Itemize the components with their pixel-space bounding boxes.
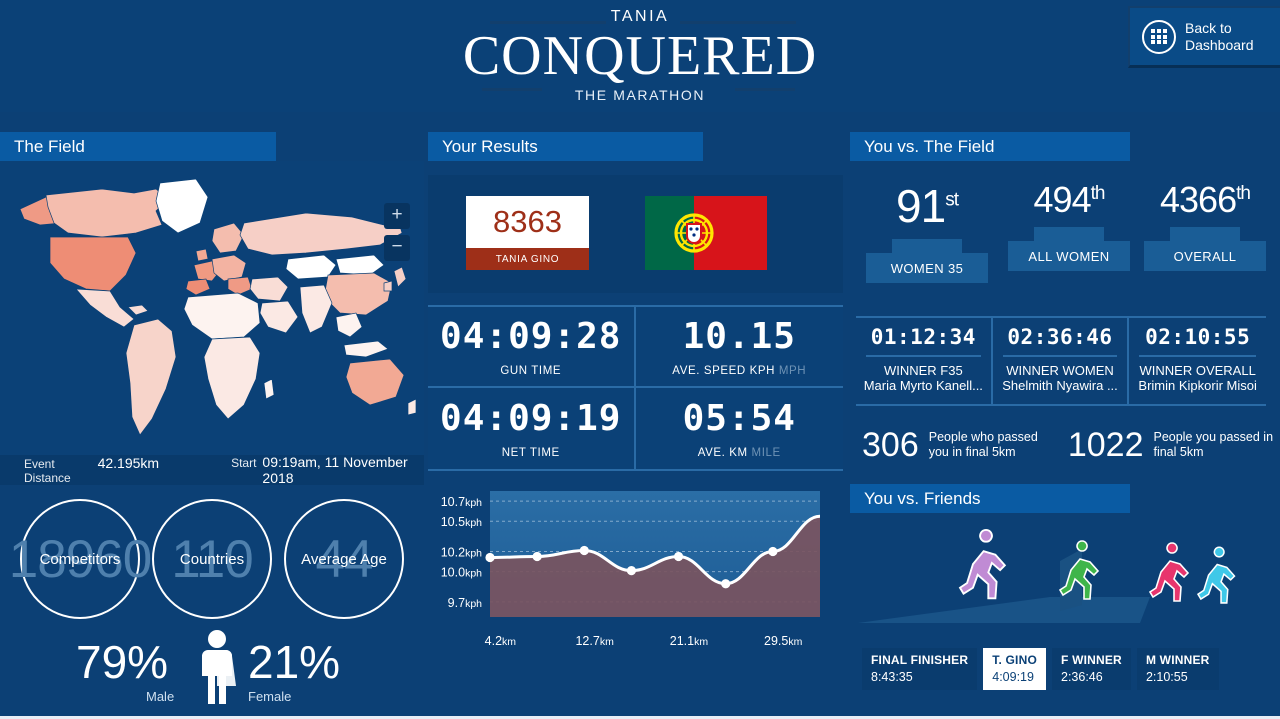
rank-women-35: 91st WOMEN 35: [856, 179, 998, 285]
event-start: Start 09:19am, 11 November 2018: [231, 454, 424, 486]
winner-women-title: WINNER WOMEN: [993, 363, 1128, 378]
marathon-results-dashboard: TANIA CONQUERED THE MARATHON Back to Das…: [0, 0, 1280, 719]
passed-you-count: 306: [862, 426, 919, 465]
female-label: Female: [248, 689, 291, 704]
runners-stage: [850, 519, 1276, 639]
net-time-value: 04:09:19: [440, 398, 621, 439]
you-passed-count: 1022: [1068, 426, 1144, 465]
the-field-title: The Field: [14, 137, 85, 157]
you-vs-field-panel: You vs. The Field 91st WOMEN 35 494th AL…: [850, 132, 1276, 698]
you-vs-field-header: You vs. The Field: [850, 132, 1130, 161]
friend-card-time: 2:36:46: [1061, 670, 1122, 684]
map-zoom-controls[interactable]: + −: [384, 203, 410, 261]
event-distance: Event Distance 42.195km: [24, 455, 159, 485]
ave-speed-value: 10.15: [683, 316, 796, 357]
your-results-title: Your Results: [442, 137, 538, 157]
winner-overall-time: 02:10:55: [1129, 325, 1266, 349]
subtitle-rule-right: [735, 88, 795, 91]
world-map-svg: [6, 167, 418, 447]
you-vs-friends-section: FINAL FINISHER8:43:35T. GINO4:09:19F WIN…: [850, 513, 1276, 698]
rank-women-35-number: 91: [896, 180, 945, 232]
subtitle-rule-left: [482, 88, 542, 91]
rank-overall-number: 4366: [1160, 179, 1236, 220]
podium-top: [892, 239, 962, 253]
event-info-bar: Event Distance 42.195km Start 09:19am, 1…: [0, 455, 424, 485]
competitors-label: Competitors: [20, 499, 140, 619]
pace-chart[interactable]: 9.7kph10.0kph10.2kph10.5kph10.7kph4.2km1…: [428, 479, 843, 679]
rank-women-35-label: WOMEN 35: [866, 253, 988, 283]
svg-text:9.7kph: 9.7kph: [448, 596, 482, 610]
gun-time-label: GUN TIME: [500, 365, 561, 377]
back-to-dashboard-label: Back to Dashboard: [1185, 20, 1254, 54]
the-field-header: The Field: [0, 132, 276, 161]
winner-f35-name: Maria Myrto Kanell...: [856, 378, 991, 393]
svg-text:10.7kph: 10.7kph: [441, 495, 482, 509]
winner-overall: 02:10:55 WINNER OVERALL Brimin Kipkorir …: [1129, 318, 1266, 404]
page-title: CONQUERED: [0, 27, 1280, 85]
you-vs-friends-header: You vs. Friends: [850, 484, 1130, 513]
male-label: Male: [146, 689, 174, 704]
winner-overall-title: WINNER OVERALL: [1129, 363, 1266, 378]
you-passed-stat: 1022 People you passed in final 5km: [1068, 426, 1273, 465]
winner-f35-time: 01:12:34: [856, 325, 991, 349]
rank-all-women-label: ALL WOMEN: [1008, 241, 1130, 271]
rank-all-women-podium: ALL WOMEN: [998, 227, 1140, 273]
rank-women-35-value: 91st: [856, 179, 998, 233]
svg-text:10.0kph: 10.0kph: [441, 566, 482, 580]
male-percent: 79%: [76, 635, 168, 689]
winner-divider: [866, 355, 981, 357]
winner-women-name: Shelmith Nyawira ...: [993, 378, 1128, 393]
winner-divider: [1139, 355, 1256, 357]
you-vs-friends-title: You vs. Friends: [864, 489, 981, 509]
rank-overall-value: 4366th: [1134, 179, 1276, 221]
gender-figure-icon: [194, 629, 240, 712]
map-zoom-out-button[interactable]: −: [384, 235, 410, 261]
friend-card[interactable]: FINAL FINISHER8:43:35: [862, 648, 977, 690]
friend-card-time: 4:09:19: [992, 670, 1037, 684]
back-to-dashboard-button[interactable]: Back to Dashboard: [1128, 6, 1280, 68]
friend-card-title: M WINNER: [1146, 653, 1210, 667]
passed-you-stat: 306 People who passed you in final 5km: [862, 426, 1038, 465]
the-field-panel: The Field: [0, 132, 424, 715]
event-start-value: 09:19am, 11 November 2018: [262, 454, 424, 486]
svg-text:4.2km: 4.2km: [485, 634, 517, 648]
countries-label: Countries: [152, 499, 272, 619]
average-age-label: Average Age: [284, 499, 404, 619]
winner-women: 02:36:46 WINNER WOMEN Shelmith Nyawira .…: [993, 318, 1130, 404]
passed-you-text: People who passed you in final 5km: [929, 430, 1038, 460]
rank-all-women-suffix: th: [1091, 183, 1105, 204]
ave-speed-unit-active[interactable]: AVE. SPEED KPH: [672, 365, 775, 377]
page-header: TANIA CONQUERED THE MARATHON Back to Das…: [0, 0, 1280, 112]
podium-top: [1170, 227, 1240, 241]
friend-card-time: 8:43:35: [871, 670, 968, 684]
gun-time-metric: 04:09:28 GUN TIME: [428, 307, 636, 388]
event-distance-label: Event Distance: [24, 457, 92, 485]
rank-overall: 4366th OVERALL: [1134, 179, 1276, 273]
title-rule-right: [680, 21, 796, 24]
friend-result-cards: FINAL FINISHER8:43:35T. GINO4:09:19F WIN…: [862, 648, 1219, 690]
your-results-header: Your Results: [428, 132, 703, 161]
bib-number: 8363: [466, 196, 589, 248]
ave-speed-label: AVE. SPEED KPH MPH: [672, 365, 806, 377]
friend-card-title: T. GINO: [992, 653, 1037, 667]
friend-card-time: 2:10:55: [1146, 670, 1210, 684]
you-vs-field-title: You vs. The Field: [864, 137, 994, 157]
your-results-panel: Your Results 8363 TANIA GINO: [428, 132, 843, 679]
brand-title-text: CONQUERED: [463, 25, 817, 87]
winner-f35: 01:12:34 WINNER F35 Maria Myrto Kanell..…: [856, 318, 993, 404]
bib-name: TANIA GINO: [466, 248, 589, 270]
rank-all-women-value: 494th: [998, 179, 1140, 221]
map-zoom-in-button[interactable]: +: [384, 203, 410, 229]
rank-all-women: 494th ALL WOMEN: [998, 179, 1140, 273]
brand-pretitle: TANIA: [0, 8, 1280, 26]
gender-split: 79% Male 21% Female: [0, 627, 424, 715]
friend-card[interactable]: M WINNER2:10:55: [1137, 648, 1219, 690]
grid-icon: [1142, 20, 1176, 54]
you-passed-text: People you passed in final 5km: [1153, 430, 1273, 460]
net-time-metric: 04:09:19 NET TIME: [428, 388, 636, 469]
svg-text:29.5km: 29.5km: [764, 634, 803, 648]
rank-overall-label: OVERALL: [1144, 241, 1266, 271]
rank-all-women-number: 494: [1034, 179, 1091, 220]
rank-podiums: 91st WOMEN 35 494th ALL WOMEN 4366th OVE…: [850, 161, 1276, 316]
event-distance-value: 42.195km: [98, 455, 159, 471]
winner-divider: [1003, 355, 1118, 357]
m-winner-runner: [1198, 547, 1234, 603]
ave-km-metric[interactable]: 05:54 AVE. KM MILE: [636, 388, 844, 469]
ave-speed-unit-dim[interactable]: MPH: [779, 365, 806, 377]
friend-card[interactable]: F WINNER2:36:46: [1052, 648, 1131, 690]
rank-women-35-podium: WOMEN 35: [856, 239, 998, 285]
final-finisher-runner: [960, 530, 1005, 598]
ave-km-label: AVE. KM MILE: [698, 447, 781, 459]
pace-chart-svg: 9.7kph10.0kph10.2kph10.5kph10.7kph4.2km1…: [428, 479, 843, 679]
svg-text:12.7km: 12.7km: [575, 634, 614, 648]
rank-women-35-suffix: st: [945, 190, 958, 211]
event-start-label: Start: [231, 456, 256, 470]
ave-km-unit-active[interactable]: AVE. KM: [698, 447, 748, 459]
female-percent: 21%: [248, 635, 340, 689]
svg-text:21.1km: 21.1km: [670, 634, 709, 648]
title-rule-left: [490, 21, 606, 24]
portugal-flag-icon: [645, 196, 767, 270]
brand-block: TANIA CONQUERED THE MARATHON: [0, 8, 1280, 103]
ave-km-value: 05:54: [683, 398, 796, 439]
friend-card-title: FINAL FINISHER: [871, 653, 968, 667]
net-time-label: NET TIME: [502, 447, 560, 459]
f-winner-runner: [1150, 543, 1188, 601]
passed-runners-stats: 306 People who passed you in final 5km 1…: [850, 406, 1276, 484]
world-map[interactable]: + −: [0, 161, 424, 455]
field-stat-circles: 18960 Competitors 110 Countries 44 Avera…: [0, 499, 424, 619]
winner-women-time: 02:36:46: [993, 325, 1128, 349]
rank-overall-podium: OVERALL: [1134, 227, 1276, 273]
brand-subtitle: THE MARATHON: [0, 87, 1280, 103]
gun-time-value: 04:09:28: [440, 316, 621, 357]
winner-overall-name: Brimin Kipkorir Misoi: [1129, 378, 1266, 393]
ave-km-unit-dim[interactable]: MILE: [752, 447, 781, 459]
race-bib: 8363 TANIA GINO: [466, 196, 589, 270]
ave-speed-metric[interactable]: 10.15 AVE. SPEED KPH MPH: [636, 307, 844, 388]
svg-text:10.2kph: 10.2kph: [441, 545, 482, 559]
podium-top: [1034, 227, 1104, 241]
rank-overall-suffix: th: [1236, 183, 1250, 204]
svg-text:10.5kph: 10.5kph: [441, 515, 482, 529]
results-spacer: [428, 161, 843, 175]
friend-card-title: F WINNER: [1061, 653, 1122, 667]
results-metrics-grid: 04:09:28 GUN TIME 10.15 AVE. SPEED KPH M…: [428, 305, 843, 471]
bib-and-flag-row: 8363 TANIA GINO: [428, 175, 843, 293]
friend-card[interactable]: T. GINO4:09:19: [983, 648, 1046, 690]
winners-row: 01:12:34 WINNER F35 Maria Myrto Kanell..…: [856, 316, 1266, 406]
winner-f35-title: WINNER F35: [856, 363, 991, 378]
